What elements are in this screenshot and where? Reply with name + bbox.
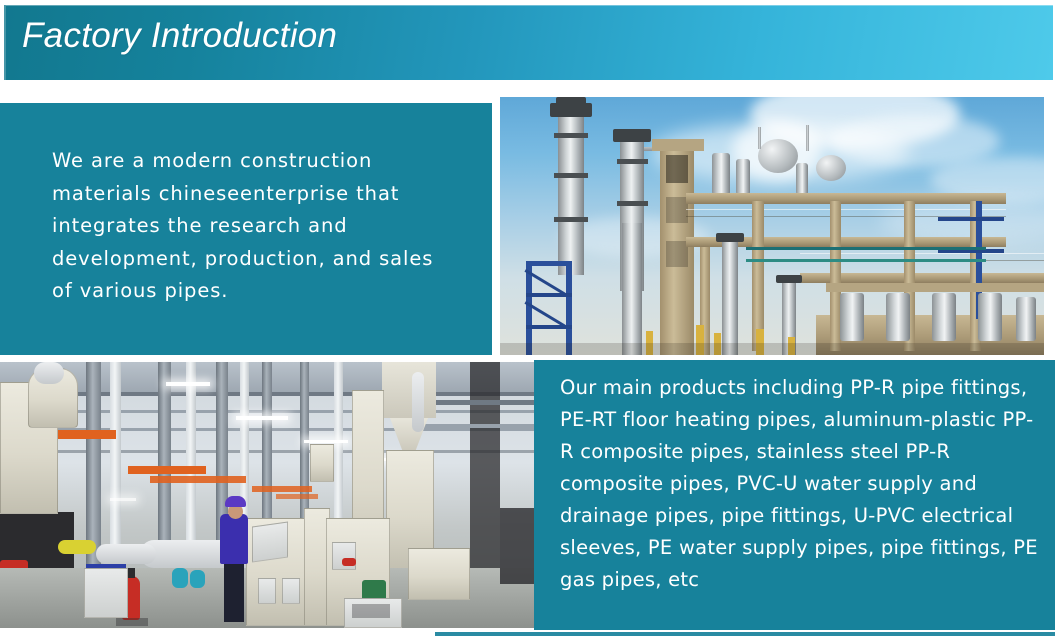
overhead-crane-beam bbox=[252, 486, 312, 492]
extinguisher-shadow bbox=[116, 618, 148, 626]
roof-truss bbox=[0, 450, 546, 453]
deck-railing bbox=[686, 209, 1006, 217]
storage-vessel bbox=[816, 155, 846, 181]
column-band bbox=[554, 173, 588, 178]
process-vessel bbox=[712, 153, 730, 195]
ground-shadow bbox=[500, 343, 1044, 355]
process-pipe bbox=[746, 259, 986, 262]
low-building-roof bbox=[826, 283, 1044, 292]
blue-frame bbox=[526, 293, 572, 297]
column-cap bbox=[613, 129, 651, 142]
overhead-crane-beam bbox=[56, 430, 116, 439]
upper-control-box bbox=[310, 444, 334, 482]
process-vessel bbox=[1016, 297, 1036, 341]
column-cap bbox=[776, 275, 802, 283]
overhead-crane-beam bbox=[276, 494, 318, 499]
blue-frame bbox=[526, 261, 572, 266]
ceiling-lamp bbox=[304, 440, 348, 443]
tower-top-beam bbox=[652, 139, 704, 151]
white-pipe bbox=[110, 362, 121, 550]
roof-truss bbox=[0, 410, 546, 413]
distillation-column bbox=[558, 115, 584, 275]
products-text-panel: Our main products including PP-R pipe fi… bbox=[534, 360, 1055, 630]
overhead-crane-beam bbox=[150, 476, 246, 483]
slide-canvas: Factory Introduction We are a modern con… bbox=[0, 0, 1060, 641]
steel-column bbox=[262, 362, 272, 542]
process-vessel bbox=[886, 293, 910, 341]
column-cap bbox=[716, 233, 744, 242]
petrochemical-refinery-photo bbox=[500, 97, 1044, 355]
emergency-stop bbox=[342, 558, 356, 566]
column-cap bbox=[556, 97, 586, 105]
column-band bbox=[554, 133, 588, 138]
process-column bbox=[622, 223, 642, 355]
side-machine bbox=[408, 548, 470, 600]
blue-drum bbox=[190, 570, 205, 588]
steel-column bbox=[86, 362, 101, 568]
bottom-accent-rule bbox=[435, 632, 1055, 636]
process-column bbox=[722, 241, 738, 355]
cabinet-vent bbox=[258, 578, 276, 604]
blue-frame bbox=[938, 217, 1004, 221]
blue-drum bbox=[172, 568, 188, 588]
worker-torso bbox=[220, 514, 248, 564]
process-vessel bbox=[840, 293, 864, 341]
blue-frame bbox=[526, 325, 572, 329]
tower-opening bbox=[666, 155, 688, 183]
page-title: Factory Introduction bbox=[22, 16, 337, 56]
blue-frame bbox=[566, 261, 572, 355]
process-vessel bbox=[796, 163, 808, 195]
cabinet-panel bbox=[252, 521, 288, 562]
feed-tube bbox=[412, 372, 424, 432]
column-band bbox=[554, 217, 588, 222]
material-hopper bbox=[382, 362, 436, 418]
products-paragraph: Our main products including PP-R pipe fi… bbox=[560, 372, 1040, 596]
slide-header-bar: Factory Introduction bbox=[4, 4, 1053, 80]
storage-vessel bbox=[758, 139, 798, 173]
intro-paragraph: We are a modern construction materials c… bbox=[52, 145, 452, 308]
ceiling-lamp bbox=[110, 498, 136, 501]
pipe-on-line bbox=[96, 544, 156, 564]
console-screen bbox=[352, 604, 390, 618]
process-vessel bbox=[978, 293, 1002, 341]
steel-column bbox=[158, 362, 171, 558]
worker-hard-hat bbox=[225, 496, 246, 507]
worker-legs bbox=[224, 560, 244, 622]
intro-text-panel: We are a modern construction materials c… bbox=[0, 103, 492, 355]
vent-stack bbox=[806, 125, 809, 151]
tower-opening bbox=[666, 241, 688, 267]
factory-roof bbox=[0, 362, 546, 396]
process-vessel bbox=[932, 293, 956, 341]
ceiling-lamp bbox=[236, 416, 288, 420]
control-box bbox=[84, 568, 128, 618]
column-cap bbox=[550, 103, 592, 117]
steel-column bbox=[470, 362, 500, 572]
vent-stack bbox=[758, 127, 761, 149]
silo-duct bbox=[34, 362, 64, 384]
roof-truss bbox=[0, 392, 546, 396]
cabinet-vent bbox=[282, 578, 300, 604]
white-pipe bbox=[186, 362, 196, 540]
yellow-guard bbox=[58, 540, 96, 554]
pipe-extrusion-factory-photo bbox=[0, 362, 546, 628]
overhead-crane-beam bbox=[128, 466, 206, 474]
column-band bbox=[617, 159, 648, 164]
process-vessel bbox=[736, 159, 750, 195]
plant-deck bbox=[686, 193, 1006, 204]
column-band bbox=[617, 201, 648, 206]
ceiling-lamp bbox=[166, 382, 210, 386]
tower-opening bbox=[666, 197, 688, 223]
process-pipe bbox=[746, 247, 986, 250]
